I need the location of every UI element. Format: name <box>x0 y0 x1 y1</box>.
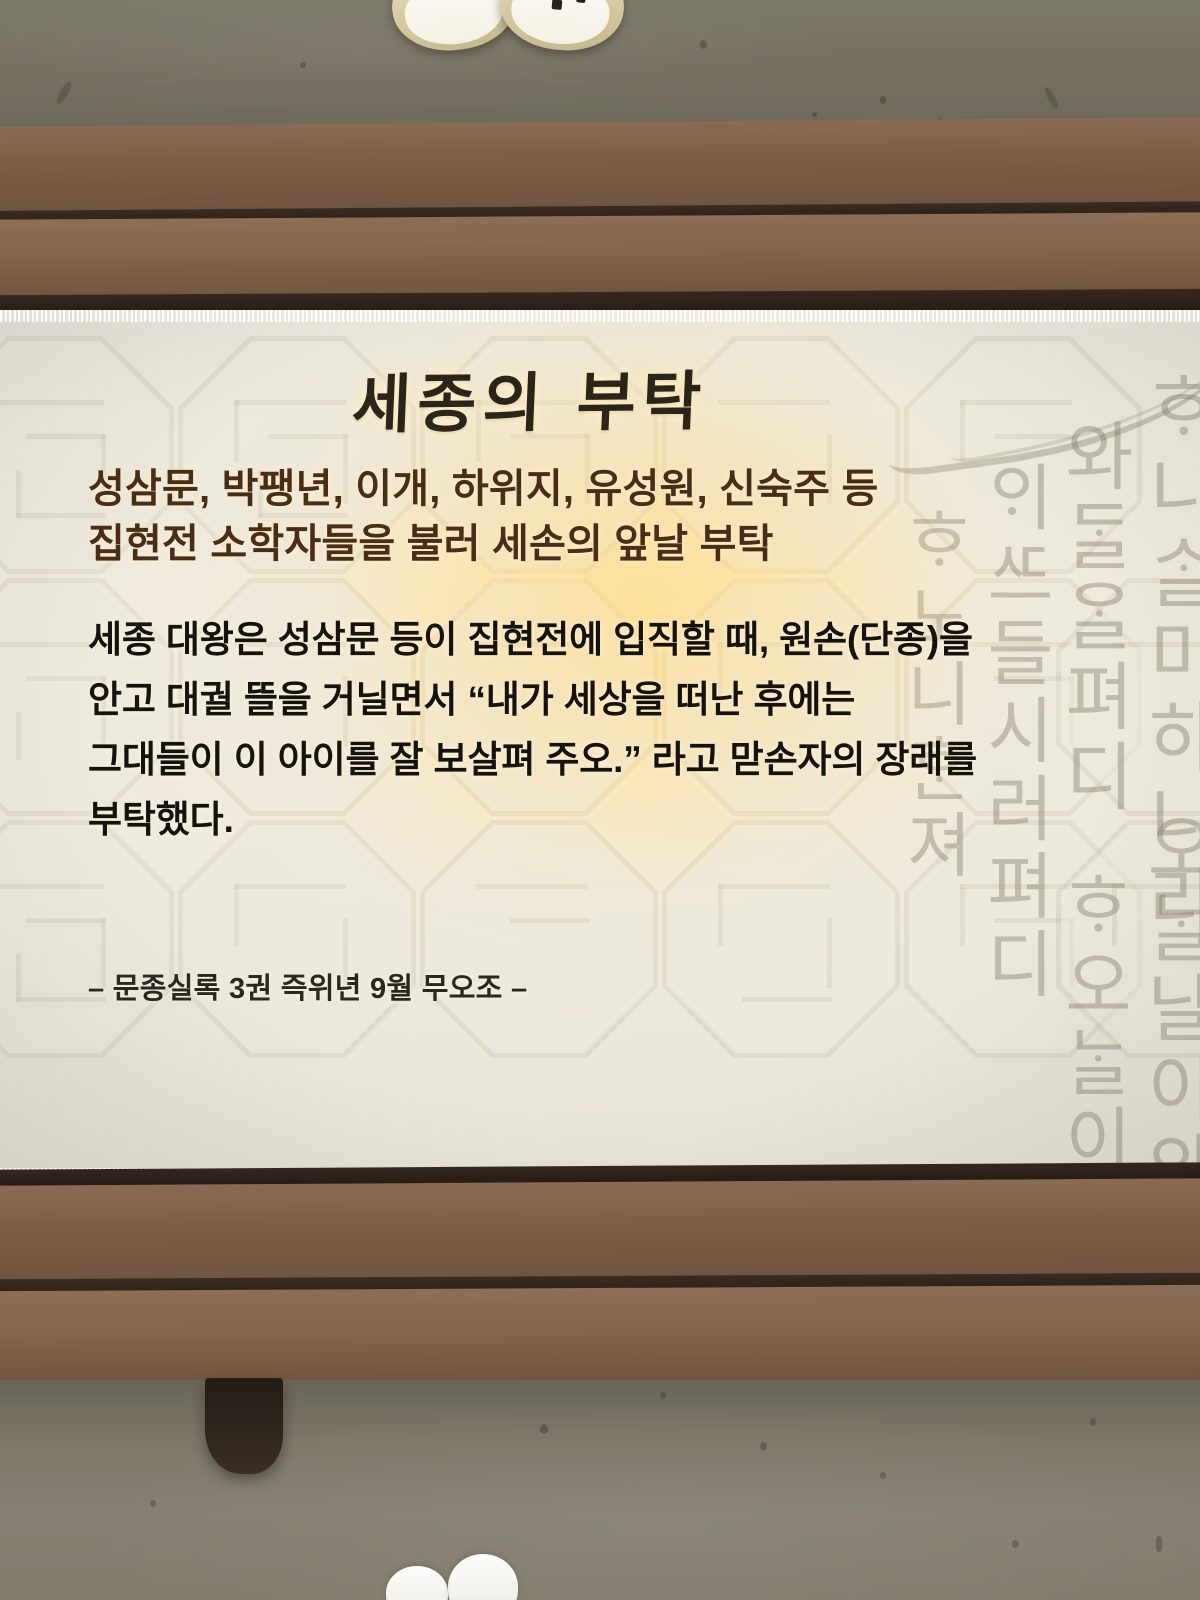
gold-ornament-object <box>392 0 632 50</box>
dark-hanging-object <box>205 1378 283 1474</box>
panel-subtitle: 성삼문, 박팽년, 이개, 하위지, 유성원, 신숙주 등 집현전 소학자들을 … <box>88 462 1088 572</box>
gold-dot <box>552 0 563 10</box>
museum-exhibit-photo: ᄒᆞ니ᄉᆞᆯ미하니라 와ᄃᆞᆯᄋᆞᆯ펴디 ᄋᆡᄯᅳ들시러펴디 ᄒᆞ노니ᄒᆞᆫ져 … <box>0 0 1200 1600</box>
frame-band-lower-2 <box>0 1285 1200 1387</box>
panel-body-text: 세종 대왕은 성삼문 등이 집현전에 입직할 때, 원손(단종)을 안고 대궐 … <box>88 610 1098 850</box>
body-line-1: 세종 대왕은 성삼문 등이 집현전에 입직할 때, 원손(단종)을 <box>88 610 1098 670</box>
source-citation: – 문종실록 3권 즉위년 9월 무오조 – <box>88 965 988 1007</box>
wall-lower <box>0 1380 1200 1600</box>
wall-speck <box>760 1442 767 1451</box>
wall-speck <box>700 40 707 49</box>
gold-lobe-left-inner <box>402 0 506 49</box>
subtitle-line-2: 집현전 소학자들을 불러 세손의 앞날 부탁 <box>88 517 1088 572</box>
wall-speck <box>150 1500 156 1507</box>
gold-lobe-right <box>496 0 628 55</box>
wall-speck <box>660 1392 666 1399</box>
body-line-2: 안고 대궐 뜰을 거닐면서 “내가 세상을 떠난 후에는 <box>88 670 1098 730</box>
wall-speck <box>812 112 817 117</box>
frame-band-upper-2 <box>0 212 1200 299</box>
panel-content: 세종의 부탁 성삼문, 박팽년, 이개, 하위지, 유성원, 신숙주 등 집현전… <box>0 310 1200 1180</box>
frame-band-upper-1 <box>0 117 1200 211</box>
wall-speck <box>1090 1418 1096 1426</box>
wall-speck <box>540 1424 548 1434</box>
body-line-3: 그대들이 이 아이를 잘 보살펴 주오.” 라고 맏손자의 장래를 <box>88 730 1098 790</box>
wall-speck <box>880 1472 886 1479</box>
body-line-4: 부탁했다. <box>88 790 1098 850</box>
wall-speck <box>1156 1536 1162 1552</box>
exhibit-text-panel: ᄒᆞ니ᄉᆞᆯ미하니라 와ᄃᆞᆯᄋᆞᆯ펴디 ᄋᆡᄯᅳ들시러펴디 ᄒᆞ노니ᄒᆞᆫ져 … <box>0 310 1200 1180</box>
page-title: 세종의 부탁 <box>0 346 1062 449</box>
wall-speck <box>300 62 306 68</box>
frame-band-lower-1 <box>0 1178 1200 1281</box>
subtitle-line-1: 성삼문, 박팽년, 이개, 하위지, 유성원, 신숙주 등 <box>88 462 1088 517</box>
wall-speck <box>1012 1540 1019 1548</box>
wall-speck <box>880 96 886 104</box>
panel-torn-edge-top <box>0 310 1200 322</box>
